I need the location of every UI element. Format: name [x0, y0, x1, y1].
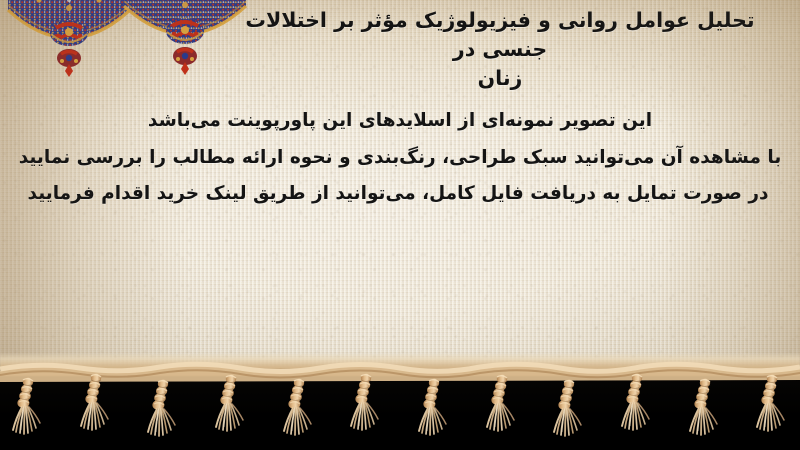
slide-title-line-1: تحلیل عوامل روانی و فیزیولوژیک مؤثر بر ا… [220, 6, 780, 64]
slide-body-line-2: با مشاهده آن می‌توانید سبک طراحی، رنگ‌بن… [8, 149, 792, 168]
bottom-black-band [0, 368, 800, 450]
slide-title: تحلیل عوامل روانی و فیزیولوژیک مؤثر بر ا… [220, 6, 780, 93]
slide-body-line-3: در صورت تمایل به دریافت فایل کامل، می‌تو… [8, 185, 792, 204]
carpet-selvedge-strip [0, 352, 800, 376]
slide-body-line-1: این تصویر نمونه‌ای از اسلایدهای این پاور… [8, 112, 792, 131]
slide-body-text: این تصویر نمونه‌ای از اسلایدهای این پاور… [8, 112, 792, 204]
slide-title-line-2: زنان [220, 64, 780, 93]
presentation-slide: تحلیل عوامل روانی و فیزیولوژیک مؤثر بر ا… [0, 0, 800, 450]
